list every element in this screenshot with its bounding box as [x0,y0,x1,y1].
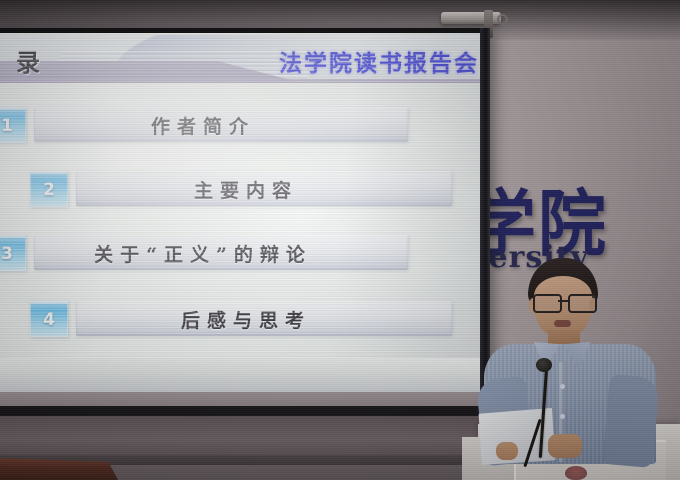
projected-slide: 录 法学院读书报告会 1 作者简介 2 主要内容 3 关于“正义”的辩论 [0,33,481,396]
slide-breadcrumb: 录 [16,43,40,78]
speaker-person [476,258,666,458]
speaker-hand-right [548,434,582,458]
header-bottom-rule [0,79,481,83]
microphone-icon [536,358,552,372]
speaker-arm-right [602,374,660,468]
agenda-label-4: 后感与思考 [181,306,311,333]
glasses-icon [532,294,595,309]
screen-bottom-trim [0,392,481,406]
agenda-bar-1: 作者简介 [34,107,408,142]
slide-title: 法学院读书报告会 [279,44,479,78]
speaker-mouth [554,320,571,327]
shirt-button-upper [560,384,565,389]
agenda-bar-4: 后感与思考 [76,301,452,336]
agenda-label-1: 作者简介 [151,112,255,139]
agenda-item-4: 4 后感与思考 [30,301,452,335]
agenda-number-badge-1: 1 [0,107,26,143]
glasses-bridge [558,300,569,302]
agenda-number-badge-2: 2 [30,171,68,207]
slide-agenda-list: 1 作者简介 2 主要内容 3 关于“正义”的辩论 4 [0,93,481,393]
agenda-bar-3: 关于“正义”的辩论 [34,235,408,270]
glasses-lens-right [568,294,597,313]
slide-header-band: 录 法学院读书报告会 [0,35,481,83]
agenda-label-3: 关于“正义”的辩论 [94,240,312,267]
agenda-number-badge-4: 4 [30,301,68,337]
agenda-label-2: 主要内容 [194,176,298,203]
agenda-number-badge-3: 3 [0,235,26,271]
under-screen-wall-panel [0,416,492,458]
roller-hook-icon [497,14,508,25]
screen-bottom-weight-bar [0,406,484,416]
glasses-lens-left [533,294,562,313]
lecture-hall-scene: 学院 versity 录 法学院读书报告会 1 作者简介 2 [0,0,680,480]
agenda-item-3: 3 关于“正义”的辩论 [0,235,408,269]
agenda-bar-2: 主要内容 [76,171,452,206]
shirt-button-lower [560,414,565,419]
screen-blank-area [0,358,481,392]
agenda-item-1: 1 作者简介 [0,107,408,141]
lectern-emblem [565,466,587,480]
agenda-item-2: 2 主要内容 [30,171,452,205]
speaker-hand-left [496,442,518,460]
